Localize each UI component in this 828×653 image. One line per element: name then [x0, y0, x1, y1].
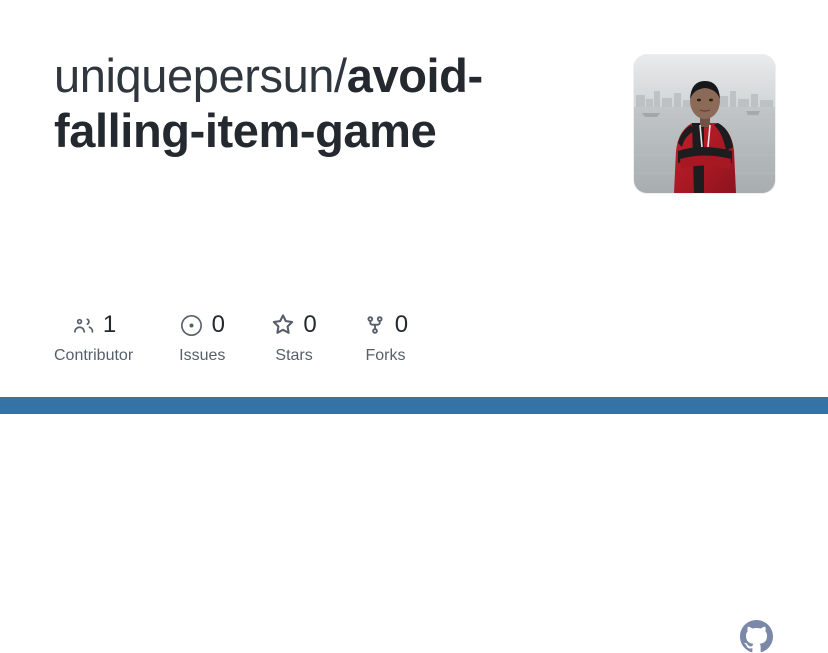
stat-contributors: 1 Contributor — [54, 310, 133, 364]
stat-forks-value: 0 — [395, 313, 408, 337]
star-icon — [271, 313, 295, 337]
stat-contributors-top: 1 — [71, 310, 116, 340]
people-icon — [71, 313, 95, 337]
stat-stars: 0 Stars — [271, 310, 316, 364]
stat-stars-label: Stars — [275, 348, 312, 364]
github-mark-icon — [740, 620, 773, 653]
repo-stats-region: 1 Contributor 0 Issues — [0, 300, 828, 397]
stat-stars-top: 0 — [271, 310, 316, 340]
avatar — [634, 55, 775, 193]
card-header-region: uniquepersun/avoid-falling-item-game — [0, 0, 828, 300]
page-title: uniquepersun/avoid-falling-item-game — [54, 49, 594, 159]
language-color-bar — [0, 397, 828, 414]
repo-stats-list: 1 Contributor 0 Issues — [54, 310, 408, 364]
stat-forks: 0 Forks — [363, 310, 408, 364]
stat-issues: 0 Issues — [179, 310, 225, 364]
stat-issues-value: 0 — [212, 313, 225, 337]
issue-opened-icon — [180, 313, 204, 337]
stat-contributors-label: Contributor — [54, 348, 133, 364]
avatar-photo — [634, 55, 775, 193]
repo-name-separator: / — [334, 49, 347, 102]
stat-contributors-value: 1 — [103, 313, 116, 337]
repo-forked-icon — [363, 313, 387, 337]
stat-issues-top: 0 — [180, 310, 225, 340]
language-segment-primary — [0, 397, 828, 414]
repo-social-preview-card: uniquepersun/avoid-falling-item-game — [0, 0, 828, 414]
repo-owner-name: uniquepersun — [54, 49, 334, 102]
stat-issues-label: Issues — [179, 348, 225, 364]
stat-stars-value: 0 — [303, 313, 316, 337]
stat-forks-label: Forks — [365, 348, 405, 364]
stat-forks-top: 0 — [363, 310, 408, 340]
